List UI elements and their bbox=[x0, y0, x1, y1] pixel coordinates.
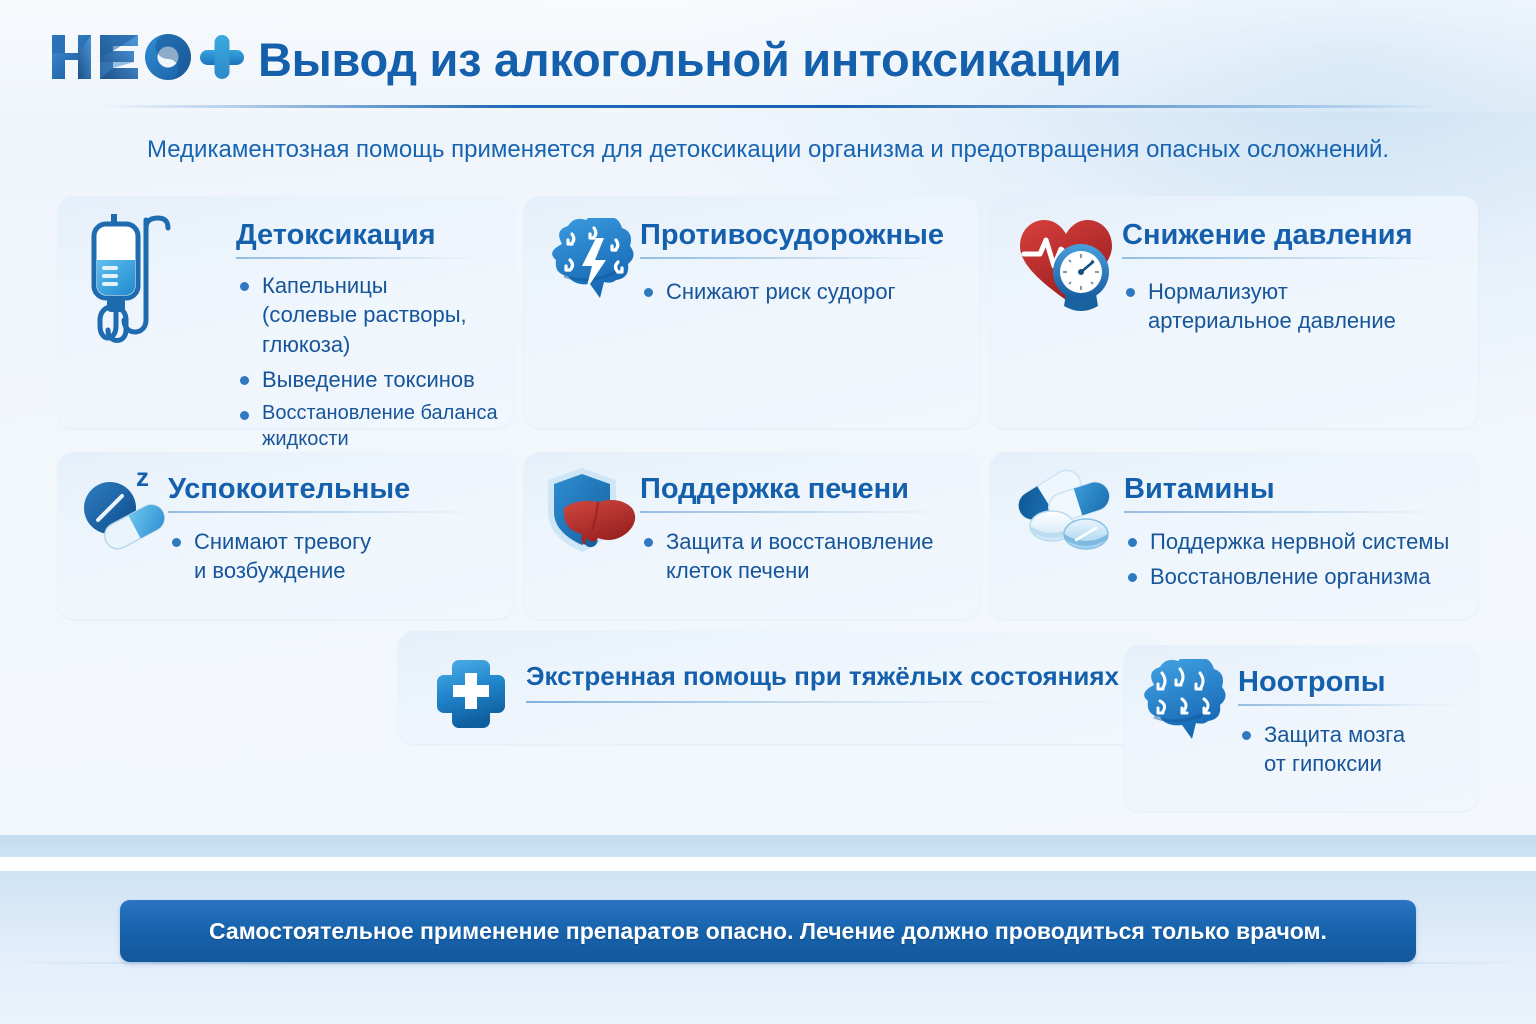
list-item: Снимают тревогу и возбуждение bbox=[168, 527, 503, 585]
header-divider bbox=[100, 105, 1440, 108]
card-sedatives: z Успокоительные Снимают тревогу и возбу… bbox=[58, 452, 513, 619]
card-divider bbox=[1238, 704, 1468, 706]
list-item: Защита и восстановление клеток печени bbox=[640, 527, 970, 585]
card-nootropics: Ноотропы Защита мозга от гипоксии bbox=[1124, 645, 1478, 811]
card-emergency-help: Экстренная помощь при тяжёлых состояниях bbox=[398, 631, 1158, 744]
card-content: Противосудорожные Снижают риск судорог bbox=[640, 220, 965, 312]
emergency-title: Экстренная помощь при тяжёлых состояниях bbox=[526, 661, 1056, 692]
card-divider bbox=[1122, 257, 1467, 259]
card-title: Поддержка печени bbox=[640, 474, 970, 504]
list-item: Поддержка нервной системы bbox=[1124, 527, 1469, 556]
card-bullet-list: Снимают тревогу и возбуждение bbox=[168, 527, 503, 585]
card-title: Снижение давления bbox=[1122, 220, 1467, 250]
card-title: Успокоительные bbox=[168, 474, 503, 504]
page-title: Вывод из алкогольной интоксикации bbox=[258, 32, 1121, 87]
list-item: Восстановление организма bbox=[1124, 562, 1469, 591]
card-bullet-list: Нормализуют артериальное давление bbox=[1122, 277, 1467, 335]
card-bullet-list: Поддержка нервной системы Восстановление… bbox=[1124, 527, 1469, 591]
card-content: Ноотропы Защита мозга от гипоксии bbox=[1238, 667, 1468, 785]
card-bullet-list: Защита и восстановление клеток печени bbox=[640, 527, 970, 585]
card-content: Снижение давления Нормализуют артериальн… bbox=[1122, 220, 1467, 342]
list-item: Защита мозга от гипоксии bbox=[1238, 720, 1468, 778]
card-content: Детоксикация Капельницы (солевые раствор… bbox=[236, 220, 498, 458]
card-divider bbox=[640, 511, 970, 513]
card-title: Ноотропы bbox=[1238, 667, 1468, 697]
card-title: Витамины bbox=[1124, 474, 1469, 504]
footer-band-white bbox=[0, 857, 1536, 871]
pills-tablets-icon bbox=[1004, 462, 1122, 563]
warning-banner: Самостоятельное применение препаратов оп… bbox=[120, 900, 1416, 962]
card-bullet-list: Защита мозга от гипоксии bbox=[1238, 720, 1468, 778]
card-vitamins: Витамины Поддержка нервной системы Восст… bbox=[990, 452, 1478, 619]
card-blood-pressure: Снижение давления Нормализуют артериальн… bbox=[990, 196, 1478, 428]
neo-plus-logo bbox=[48, 29, 248, 85]
svg-text:z: z bbox=[136, 464, 149, 492]
brain-icon bbox=[1138, 659, 1230, 752]
emergency-divider bbox=[526, 701, 1056, 703]
card-content: Поддержка печени Защита и восстановление… bbox=[640, 474, 970, 592]
shield-liver-icon bbox=[542, 464, 642, 565]
card-divider bbox=[1124, 511, 1469, 513]
card-anticonvulsants: Противосудорожные Снижают риск судорог bbox=[524, 196, 979, 428]
card-divider bbox=[640, 257, 965, 259]
list-item: Выведение токсинов bbox=[236, 365, 498, 394]
warning-text: Самостоятельное применение препаратов оп… bbox=[209, 918, 1327, 945]
pill-capsule-sleep-icon: z bbox=[72, 464, 172, 561]
iv-drip-icon bbox=[76, 212, 188, 357]
card-content: Витамины Поддержка нервной системы Восст… bbox=[1124, 474, 1469, 598]
card-bullet-list: Капельницы (солевые растворы, глюкоза) В… bbox=[236, 271, 498, 452]
card-detoxication: Детоксикация Капельницы (солевые раствор… bbox=[58, 196, 513, 428]
card-bullet-list: Снижают риск судорог bbox=[640, 277, 965, 306]
emergency-content: Экстренная помощь при тяжёлых состояниях bbox=[526, 661, 1056, 703]
card-title: Детоксикация bbox=[236, 220, 498, 250]
medical-cross-icon bbox=[434, 657, 508, 736]
card-liver-support: Поддержка печени Защита и восстановление… bbox=[524, 452, 979, 619]
list-item: Нормализуют артериальное давление bbox=[1122, 277, 1467, 335]
page-header: Вывод из алкогольной интоксикации bbox=[0, 0, 1536, 112]
page-subtitle: Медикаментозная помощь применяется для д… bbox=[0, 136, 1536, 164]
list-item: Капельницы (солевые растворы, глюкоза) bbox=[236, 271, 498, 358]
list-item: Снижают риск судорог bbox=[640, 277, 965, 306]
card-title: Противосудорожные bbox=[640, 220, 965, 250]
card-content: Успокоительные Снимают тревогу и возбужд… bbox=[168, 474, 503, 592]
footer-band-top bbox=[0, 835, 1536, 857]
footer-hairline bbox=[0, 962, 1536, 964]
card-divider bbox=[236, 257, 498, 259]
list-item: Восстановление баланса жидкости bbox=[236, 400, 498, 453]
brain-lightning-icon bbox=[544, 218, 640, 315]
heart-pulse-gauge-icon bbox=[1014, 214, 1118, 319]
card-divider bbox=[168, 511, 503, 513]
